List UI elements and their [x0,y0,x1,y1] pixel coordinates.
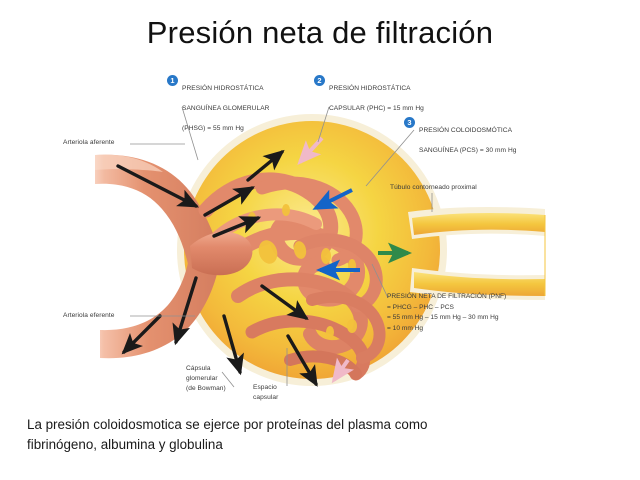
slide-caption: La presión coloidosmotica se ejerce por … [27,415,572,455]
espacio-line-1: Espacio [253,383,309,393]
caption-line-2: fibrinógeno, albumina y globulina [27,435,572,455]
callout-3-line-1: PRESIÓN COLOIDOSMÓTICA [419,126,569,136]
callout-1-line-3: (PHSG) = 55 mm Hg [182,124,332,134]
capsula-line-2: glomerular [186,374,256,384]
capsula-line-1: Cápsula [186,364,256,374]
pnf-line-1: PRESIÓN NETA DE FILTRACIÓN (PNF) [387,292,577,303]
efferent-arteriole [100,258,220,358]
callout-2-line-2: CAPSULAR (PHC) = 15 mm Hg [329,104,479,114]
callout-text-1: PRESIÓN HIDROSTÁTICA SANGUÍNEA GLOMERULA… [182,74,332,144]
callout-2-line-1: PRESIÓN HIDROSTÁTICA [329,84,479,94]
caption-line-1: La presión coloidosmotica se ejerce por … [27,415,572,435]
callout-text-3: PRESIÓN COLOIDOSMÓTICA SANGUÍNEA (PCS) =… [419,116,569,166]
pnf-line-4: = 10 mm Hg [387,324,577,335]
callout-3-line-2: SANGUÍNEA (PCS) = 30 mm Hg [419,146,569,156]
espacio-line-2: capsular [253,393,309,403]
callout-1-line-1: PRESIÓN HIDROSTÁTICA [182,84,332,94]
label-arteriola-aferente: Arteriola aferente [63,138,114,148]
pnf-line-2: = PHCG – PHC – PCS [387,303,577,314]
pnf-line-3: = 55 mm Hg – 15 mm Hg – 30 mm Hg [387,313,577,324]
capsula-line-3: (de Bowman) [186,384,256,394]
callout-badge-3: 3 [404,117,415,128]
callout-badge-2: 2 [314,75,325,86]
label-arteriola-eferente: Arteriola eferente [63,311,114,321]
slide-canvas: Presión neta de filtración [0,0,640,480]
callout-1-line-2: SANGUÍNEA GLOMERULAR [182,104,332,114]
label-tubulo-contorneado-proximal: Túbulo contorneado proximal [390,183,477,193]
page-title: Presión neta de filtración [0,16,640,50]
callout-badge-1: 1 [167,75,178,86]
label-espacio-capsular: Espacio capsular [253,383,309,403]
label-capsula-glomerular: Cápsula glomerular (de Bowman) [186,364,256,394]
net-filtration-pressure-calculation: PRESIÓN NETA DE FILTRACIÓN (PNF) = PHCG … [387,292,577,335]
